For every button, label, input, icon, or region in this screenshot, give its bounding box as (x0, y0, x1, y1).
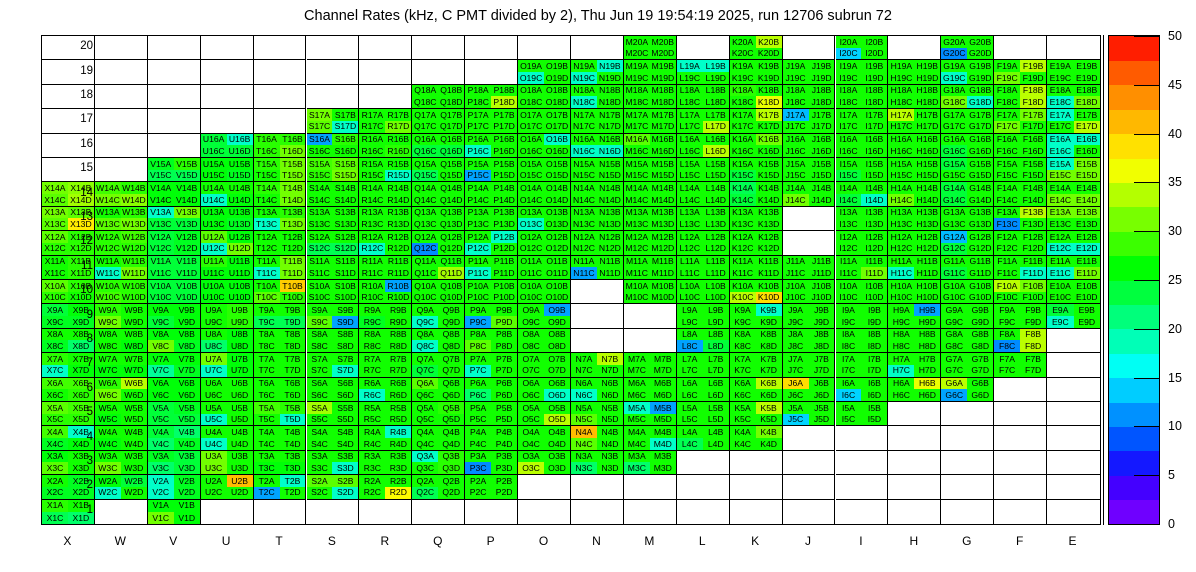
channel-F17B: F17B (1020, 109, 1046, 121)
heatmap-cell: G16AG16BG16CG16D (941, 134, 994, 158)
channel-Q3B: Q3B (438, 451, 464, 463)
channel-K11C: K11C (730, 267, 756, 279)
heatmap-cell: T5AT5BT5CT5D (254, 402, 307, 426)
x-axis-label-G: G (940, 534, 993, 548)
channel-K19C: K19C (730, 72, 756, 84)
channel-H17A: H17A (888, 109, 914, 121)
channel-empty (280, 500, 306, 512)
channel-empty (783, 462, 809, 474)
channel-O18D: O18D (544, 96, 570, 108)
channel-I12C: I12C (836, 243, 862, 255)
x-axis-label-E: E (1046, 534, 1099, 548)
channel-W6A: W6A (95, 378, 121, 390)
channel-M20C: M20C (624, 48, 650, 60)
heatmap-cell: F14AF14BF14CF14D (994, 182, 1047, 206)
channel-R2C: R2C (359, 487, 385, 499)
channel-G18B: G18B (967, 85, 993, 97)
channel-U8B: U8B (227, 329, 253, 341)
channel-Q2C: Q2C (412, 487, 438, 499)
channel-L12C: L12C (677, 243, 703, 255)
colorbar-tick-label-30: 30 (1168, 224, 1182, 238)
heatmap-cell (783, 36, 836, 60)
heatmap-cell: O4AO4BO4CO4D (518, 426, 571, 450)
channel-R13C: R13C (359, 218, 385, 230)
channel-S4D: S4D (332, 438, 358, 450)
channel-N18A: N18A (571, 85, 597, 97)
channel-W5A: W5A (95, 402, 121, 414)
heatmap-cell: O9AO9BO9CO9D (518, 304, 571, 328)
heatmap-cell: V9AV9BV9CV9D (148, 304, 201, 328)
channel-empty (1047, 365, 1073, 377)
channel-T14A: T14A (254, 182, 280, 194)
heatmap-cell: V11AV11BV11CV11D (148, 256, 201, 280)
channel-empty (201, 48, 227, 60)
channel-K11B: K11B (756, 256, 782, 268)
channel-F13D: F13D (1020, 218, 1046, 230)
heatmap-cell (254, 60, 307, 84)
heatmap-cell (1047, 402, 1100, 426)
heatmap-cell: G15AG15BG15CG15D (941, 158, 994, 182)
heatmap-cell: G18AG18BG18CG18D (941, 85, 994, 109)
channel-N11A: N11A (571, 256, 597, 268)
channel-H19A: H19A (888, 60, 914, 72)
channel-H16D: H16D (914, 145, 940, 157)
channel-N16C: N16C (571, 145, 597, 157)
channel-J16B: J16B (809, 134, 835, 146)
heatmap-cell: H19AH19BH19CH19D (888, 60, 941, 84)
channel-Q18D: Q18D (438, 96, 464, 108)
channel-H15A: H15A (888, 158, 914, 170)
channel-F14C: F14C (994, 194, 1020, 206)
channel-empty (571, 340, 597, 352)
channel-K10A: K10A (730, 280, 756, 292)
heatmap-cell (677, 451, 730, 475)
heatmap-cell: M17AM17BM17CM17D (624, 109, 677, 133)
channel-K15A: K15A (730, 158, 756, 170)
channel-I20D: I20D (861, 48, 887, 60)
channel-V9D: V9D (174, 316, 200, 328)
channel-J5C: J5C (783, 414, 809, 426)
heatmap-cell: V4AV4BV4CV4D (148, 426, 201, 450)
channel-H13D: H13D (914, 218, 940, 230)
channel-F17D: F17D (1020, 121, 1046, 133)
channel-empty (809, 500, 835, 512)
heatmap-cell (1047, 353, 1100, 377)
channel-U15D: U15D (227, 170, 253, 182)
channel-O18A: O18A (518, 85, 544, 97)
channel-empty (650, 316, 676, 328)
channel-U2B: U2B (227, 475, 253, 487)
channel-empty (888, 475, 914, 487)
channel-Q2B: Q2B (438, 475, 464, 487)
heatmap-cell: H18AH18BH18CH18D (888, 85, 941, 109)
channel-T14B: T14B (280, 182, 306, 194)
channel-S17A: S17A (307, 109, 333, 121)
channel-R4D: R4D (385, 438, 411, 450)
channel-K13B: K13B (756, 207, 782, 219)
channel-empty (1047, 475, 1073, 487)
channel-V9B: V9B (174, 304, 200, 316)
channel-T15B: T15B (280, 158, 306, 170)
channel-empty (1047, 340, 1073, 352)
channel-K8B: K8B (756, 329, 782, 341)
channel-F11C: F11C (994, 267, 1020, 279)
heatmap-cell: S6AS6BS6CS6D (307, 378, 360, 402)
channel-empty (809, 231, 835, 243)
channel-V15A: V15A (148, 158, 174, 170)
channel-empty (888, 512, 914, 524)
channel-K12C: K12C (730, 243, 756, 255)
channel-M19A: M19A (624, 60, 650, 72)
channel-L10D: L10D (703, 292, 729, 304)
channel-empty (385, 85, 411, 97)
channel-I8A: I8A (836, 329, 862, 341)
channel-O3A: O3A (518, 451, 544, 463)
channel-Q9A: Q9A (412, 304, 438, 316)
channel-empty (491, 36, 517, 48)
heatmap-cell: V2AV2BV2CV2D (148, 475, 201, 499)
heatmap-cell: R17AR17BR17CR17D (359, 109, 412, 133)
channel-H8C: H8C (888, 340, 914, 352)
channel-H7D: H7D (914, 365, 940, 377)
channel-empty (571, 36, 597, 48)
channel-H9C: H9C (888, 316, 914, 328)
channel-V2B: V2B (174, 475, 200, 487)
channel-F19C: F19C (994, 72, 1020, 84)
channel-R2D: R2D (385, 487, 411, 499)
channel-V1C: V1C (148, 512, 174, 524)
channel-W5C: W5C (95, 414, 121, 426)
channel-S13B: S13B (332, 207, 358, 219)
heatmap-cell (624, 329, 677, 353)
channel-empty (571, 329, 597, 341)
channel-Q2A: Q2A (412, 475, 438, 487)
channel-empty (1047, 353, 1073, 365)
channel-O19C: O19C (518, 72, 544, 84)
channel-F7D: F7D (1020, 365, 1046, 377)
heatmap-cell: W8AW8BW8CW8D (95, 329, 148, 353)
channel-G6C: G6C (941, 389, 967, 401)
channel-J11D: J11D (809, 267, 835, 279)
channel-E9A: E9A (1047, 304, 1073, 316)
colorbar-tick-label-35: 35 (1168, 175, 1182, 189)
channel-empty (174, 60, 200, 72)
channel-S14D: S14D (332, 194, 358, 206)
channel-J11C: J11C (783, 267, 809, 279)
heatmap-cell (201, 60, 254, 84)
channel-J9D: J9D (809, 316, 835, 328)
channel-empty (1074, 512, 1100, 524)
channel-T3C: T3C (254, 462, 280, 474)
channel-empty (465, 48, 491, 60)
channel-P10A: P10A (465, 280, 491, 292)
channel-empty (1047, 414, 1073, 426)
channel-I8D: I8D (861, 340, 887, 352)
channel-P2A: P2A (465, 475, 491, 487)
channel-N13C: N13C (571, 218, 597, 230)
channel-I7B: I7B (861, 353, 887, 365)
channel-H12D: H12D (914, 243, 940, 255)
channel-empty (148, 134, 174, 146)
channel-G18D: G18D (967, 96, 993, 108)
channel-L12D: L12D (703, 243, 729, 255)
heatmap-cell: F10AF10BF10CF10D (994, 280, 1047, 304)
channel-empty (280, 85, 306, 97)
channel-empty (994, 462, 1020, 474)
channel-U13C: U13C (201, 218, 227, 230)
channel-N13D: N13D (597, 218, 623, 230)
channel-G15D: G15D (967, 170, 993, 182)
x-axis-label-O: O (517, 534, 570, 548)
channel-empty (941, 462, 967, 474)
channel-W7D: W7D (121, 365, 147, 377)
heatmap-cell: V13AV13BV13CV13D (148, 207, 201, 231)
y-axis-label-8: 8 (65, 333, 93, 345)
x-axis-label-K: K (729, 534, 782, 548)
channel-F8D: F8D (1020, 340, 1046, 352)
channel-Q17C: Q17C (412, 121, 438, 133)
channel-I18D: I18D (861, 96, 887, 108)
channel-V11D: V11D (174, 267, 200, 279)
channel-W14A: W14A (95, 182, 121, 194)
channel-L6B: L6B (703, 378, 729, 390)
channel-empty (359, 85, 385, 97)
channel-L16D: L16D (703, 145, 729, 157)
channel-S12C: S12C (307, 243, 333, 255)
channel-L7C: L7C (677, 365, 703, 377)
channel-empty (1074, 48, 1100, 60)
channel-F18A: F18A (994, 85, 1020, 97)
channel-empty (677, 487, 703, 499)
channel-J18D: J18D (809, 96, 835, 108)
channel-L18A: L18A (677, 85, 703, 97)
channel-J19C: J19C (783, 72, 809, 84)
channel-I19A: I19A (836, 60, 862, 72)
channel-Q5C: Q5C (412, 414, 438, 426)
heatmap-cell: U16AU16BU16CU16D (201, 134, 254, 158)
channel-U14B: U14B (227, 182, 253, 194)
channel-empty (941, 414, 967, 426)
channel-P13C: P13C (465, 218, 491, 230)
heatmap-cell: F11AF11BF11CF11D (994, 256, 1047, 280)
channel-W2A: W2A (95, 475, 121, 487)
channel-empty (280, 72, 306, 84)
channel-F8A: F8A (994, 329, 1020, 341)
heatmap-cell: N5AN5BN5CN5D (571, 402, 624, 426)
channel-U8C: U8C (201, 340, 227, 352)
heatmap-cell: U3AU3BU3CU3D (201, 451, 254, 475)
channel-empty (201, 36, 227, 48)
channel-empty (95, 96, 121, 108)
channel-empty (1047, 402, 1073, 414)
channel-Q4C: Q4C (412, 438, 438, 450)
heatmap-cell: R7AR7BR7CR7D (359, 353, 412, 377)
channel-T9D: T9D (280, 316, 306, 328)
channel-J14B: J14B (809, 182, 835, 194)
channel-S16B: S16B (332, 134, 358, 146)
channel-O9A: O9A (518, 304, 544, 316)
channel-empty (703, 462, 729, 474)
channel-L14C: L14C (677, 194, 703, 206)
channel-W4B: W4B (121, 426, 147, 438)
channel-J17A: J17A (783, 109, 809, 121)
channel-V6A: V6A (148, 378, 174, 390)
channel-empty (201, 109, 227, 121)
channel-empty (332, 512, 358, 524)
channel-J7A: J7A (783, 353, 809, 365)
heatmap-cell (201, 109, 254, 133)
heatmap-cell: M11AM11BM11CM11D (624, 256, 677, 280)
channel-L18B: L18B (703, 85, 729, 97)
channel-empty (121, 158, 147, 170)
channel-empty (148, 72, 174, 84)
channel-empty (756, 487, 782, 499)
channel-empty (597, 500, 623, 512)
channel-T11B: T11B (280, 256, 306, 268)
channel-empty (703, 512, 729, 524)
channel-empty (888, 487, 914, 499)
channel-Q17A: Q17A (412, 109, 438, 121)
channel-H9B: H9B (914, 304, 940, 316)
channel-Q15A: Q15A (412, 158, 438, 170)
channel-K11D: K11D (756, 267, 782, 279)
channel-V14C: V14C (148, 194, 174, 206)
channel-G17C: G17C (941, 121, 967, 133)
heatmap-cell: G17AG17BG17CG17D (941, 109, 994, 133)
channel-empty (809, 438, 835, 450)
channel-empty (571, 48, 597, 60)
channel-T12C: T12C (254, 243, 280, 255)
channel-I5B: I5B (861, 402, 887, 414)
channel-S15D: S15D (332, 170, 358, 182)
channel-M16A: M16A (624, 134, 650, 146)
channel-Q16B: Q16B (438, 134, 464, 146)
heatmap-cell: W11AW11BW11CW11D (95, 256, 148, 280)
colorbar-tick-label-45: 45 (1168, 78, 1182, 92)
heatmap-cell: M12AM12BM12CM12D (624, 231, 677, 255)
channel-N7D: N7D (597, 365, 623, 377)
heatmap-cell: V8AV8BV8CV8D (148, 329, 201, 353)
channel-G8C: G8C (941, 340, 967, 352)
channel-V3C: V3C (148, 462, 174, 474)
channel-empty (95, 134, 121, 146)
channel-O11B: O11B (544, 256, 570, 268)
channel-U16C: U16C (201, 145, 227, 157)
channel-empty (703, 475, 729, 487)
heatmap-cell (730, 500, 783, 524)
channel-empty (307, 60, 333, 72)
heatmap-cell: G14AG14BG14CG14D (941, 182, 994, 206)
channel-N15C: N15C (571, 170, 597, 182)
heatmap-cell: K12AK12BK12CK12D (730, 231, 783, 255)
heatmap-cell: S7AS7BS7CS7D (307, 353, 360, 377)
channel-M11A: M11A (624, 256, 650, 268)
heatmap-cell: H10AH10BH10CH10D (888, 280, 941, 304)
heatmap-cell (95, 134, 148, 158)
channel-H14D: H14D (914, 194, 940, 206)
channel-O11A: O11A (518, 256, 544, 268)
channel-R17A: R17A (359, 109, 385, 121)
heatmap-cell: P18AP18BP18CP18D (465, 85, 518, 109)
heatmap-cell: S11AS11BS11CS11D (307, 256, 360, 280)
heatmap-cell (888, 500, 941, 524)
channel-R9A: R9A (359, 304, 385, 316)
channel-L6A: L6A (677, 378, 703, 390)
heatmap-cell: S3AS3BS3CS3D (307, 451, 360, 475)
channel-L12A: L12A (677, 231, 703, 243)
heatmap-cell: M18AM18BM18CM18D (624, 85, 677, 109)
channel-P17B: P17B (491, 109, 517, 121)
channel-K20B: K20B (756, 36, 782, 48)
heatmap-cell (307, 85, 360, 109)
channel-G14B: G14B (967, 182, 993, 194)
channel-empty (967, 462, 993, 474)
channel-K20A: K20A (730, 36, 756, 48)
channel-V5D: V5D (174, 414, 200, 426)
heatmap-cell: T9AT9BT9CT9D (254, 304, 307, 328)
heatmap-cell: M4AM4BM4CM4D (624, 426, 677, 450)
channel-empty (703, 36, 729, 48)
channel-L8A: L8A (677, 329, 703, 341)
channel-empty (1020, 378, 1046, 390)
channel-S11D: S11D (332, 267, 358, 279)
channel-K8A: K8A (730, 329, 756, 341)
channel-Q7D: Q7D (438, 365, 464, 377)
heatmap-cell: L5AL5BL5CL5D (677, 402, 730, 426)
channel-T10A: T10A (254, 280, 280, 292)
channel-empty (967, 487, 993, 499)
channel-R6C: R6C (359, 389, 385, 401)
channel-T5C: T5C (254, 414, 280, 426)
channel-U13A: U13A (201, 207, 227, 219)
channel-N6B: N6B (597, 378, 623, 390)
channel-K14D: K14D (756, 194, 782, 206)
channel-L8C: L8C (677, 340, 703, 352)
heatmap-cell: U14AU14BU14CU14D (201, 182, 254, 206)
channel-T4A: T4A (254, 426, 280, 438)
channel-Q14A: Q14A (412, 182, 438, 194)
channel-P12C: P12C (465, 243, 491, 255)
channel-empty (280, 36, 306, 48)
heatmap-cell (783, 500, 836, 524)
channel-R14B: R14B (385, 182, 411, 194)
channel-V8C: V8C (148, 340, 174, 352)
channel-empty (227, 48, 253, 60)
channel-T16D: T16D (280, 145, 306, 157)
heatmap-cell: N12AN12BN12CN12D (571, 231, 624, 255)
channel-empty (914, 462, 940, 474)
heatmap-cell (95, 109, 148, 133)
heatmap-cell: O5AO5BO5CO5D (518, 402, 571, 426)
channel-P4A: P4A (465, 426, 491, 438)
channel-V14B: V14B (174, 182, 200, 194)
channel-empty (95, 170, 121, 182)
channel-L11C: L11C (677, 267, 703, 279)
channel-empty (332, 85, 358, 97)
channel-empty (836, 512, 862, 524)
channel-T10C: T10C (254, 292, 280, 304)
channel-T13D: T13D (280, 218, 306, 230)
channel-H15C: H15C (888, 170, 914, 182)
channel-V13B: V13B (174, 207, 200, 219)
channel-empty (967, 500, 993, 512)
channel-M20D: M20D (650, 48, 676, 60)
channel-empty (254, 96, 280, 108)
channel-empty (571, 475, 597, 487)
heatmap-cell: Q5AQ5BQ5CQ5D (412, 402, 465, 426)
channel-K7D: K7D (756, 365, 782, 377)
channel-empty (597, 36, 623, 48)
